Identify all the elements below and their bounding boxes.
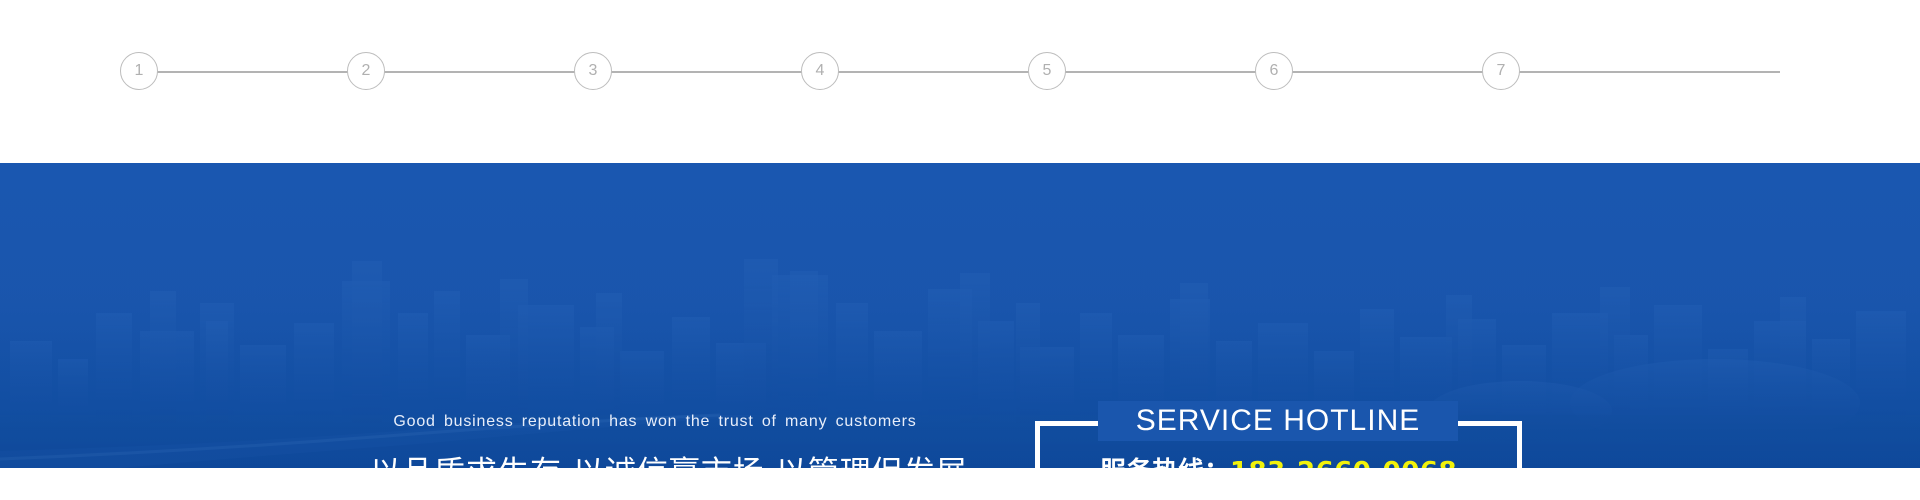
step-node-7[interactable]: 7 bbox=[1482, 52, 1520, 90]
step-node-label: 1 bbox=[135, 62, 144, 80]
step-node-3[interactable]: 3 bbox=[574, 52, 612, 90]
step-node-1[interactable]: 1 bbox=[120, 52, 158, 90]
slogan-chinese-main: 以品质求生存·以诚信赢市场·以管理促发展 bbox=[370, 447, 940, 468]
step-pagination: 1 2 3 4 5 6 7 bbox=[120, 52, 1810, 92]
banner-tint-overlay bbox=[0, 163, 1920, 468]
step-node-5[interactable]: 5 bbox=[1028, 52, 1066, 90]
slogan-english: Good business reputation has won the tru… bbox=[370, 413, 940, 431]
step-node-label: 2 bbox=[362, 62, 371, 80]
bottom-white-strip bbox=[0, 468, 1920, 500]
step-node-label: 7 bbox=[1497, 62, 1506, 80]
step-node-label: 4 bbox=[816, 62, 825, 80]
step-node-4[interactable]: 4 bbox=[801, 52, 839, 90]
step-node-label: 3 bbox=[589, 62, 598, 80]
hotline-title: SERVICE HOTLINE bbox=[1098, 401, 1458, 441]
hotline-number-primary[interactable]: 183-2660-0068 bbox=[1230, 457, 1457, 468]
page-root: 1 2 3 4 5 6 7 bbox=[0, 0, 1920, 500]
slogan-block: Good business reputation has won the tru… bbox=[370, 413, 940, 468]
step-node-label: 5 bbox=[1043, 62, 1052, 80]
hotline-label: 服务热线： bbox=[1100, 457, 1230, 468]
step-node-label: 6 bbox=[1270, 62, 1279, 80]
hotline-primary-row: 服务热线：183-2660-0068 bbox=[1035, 451, 1522, 468]
step-node-2[interactable]: 2 bbox=[347, 52, 385, 90]
pagination-strip: 1 2 3 4 5 6 7 bbox=[0, 0, 1920, 163]
step-connector-line bbox=[150, 71, 1780, 73]
promo-banner: Good business reputation has won the tru… bbox=[0, 163, 1920, 468]
step-node-6[interactable]: 6 bbox=[1255, 52, 1293, 90]
